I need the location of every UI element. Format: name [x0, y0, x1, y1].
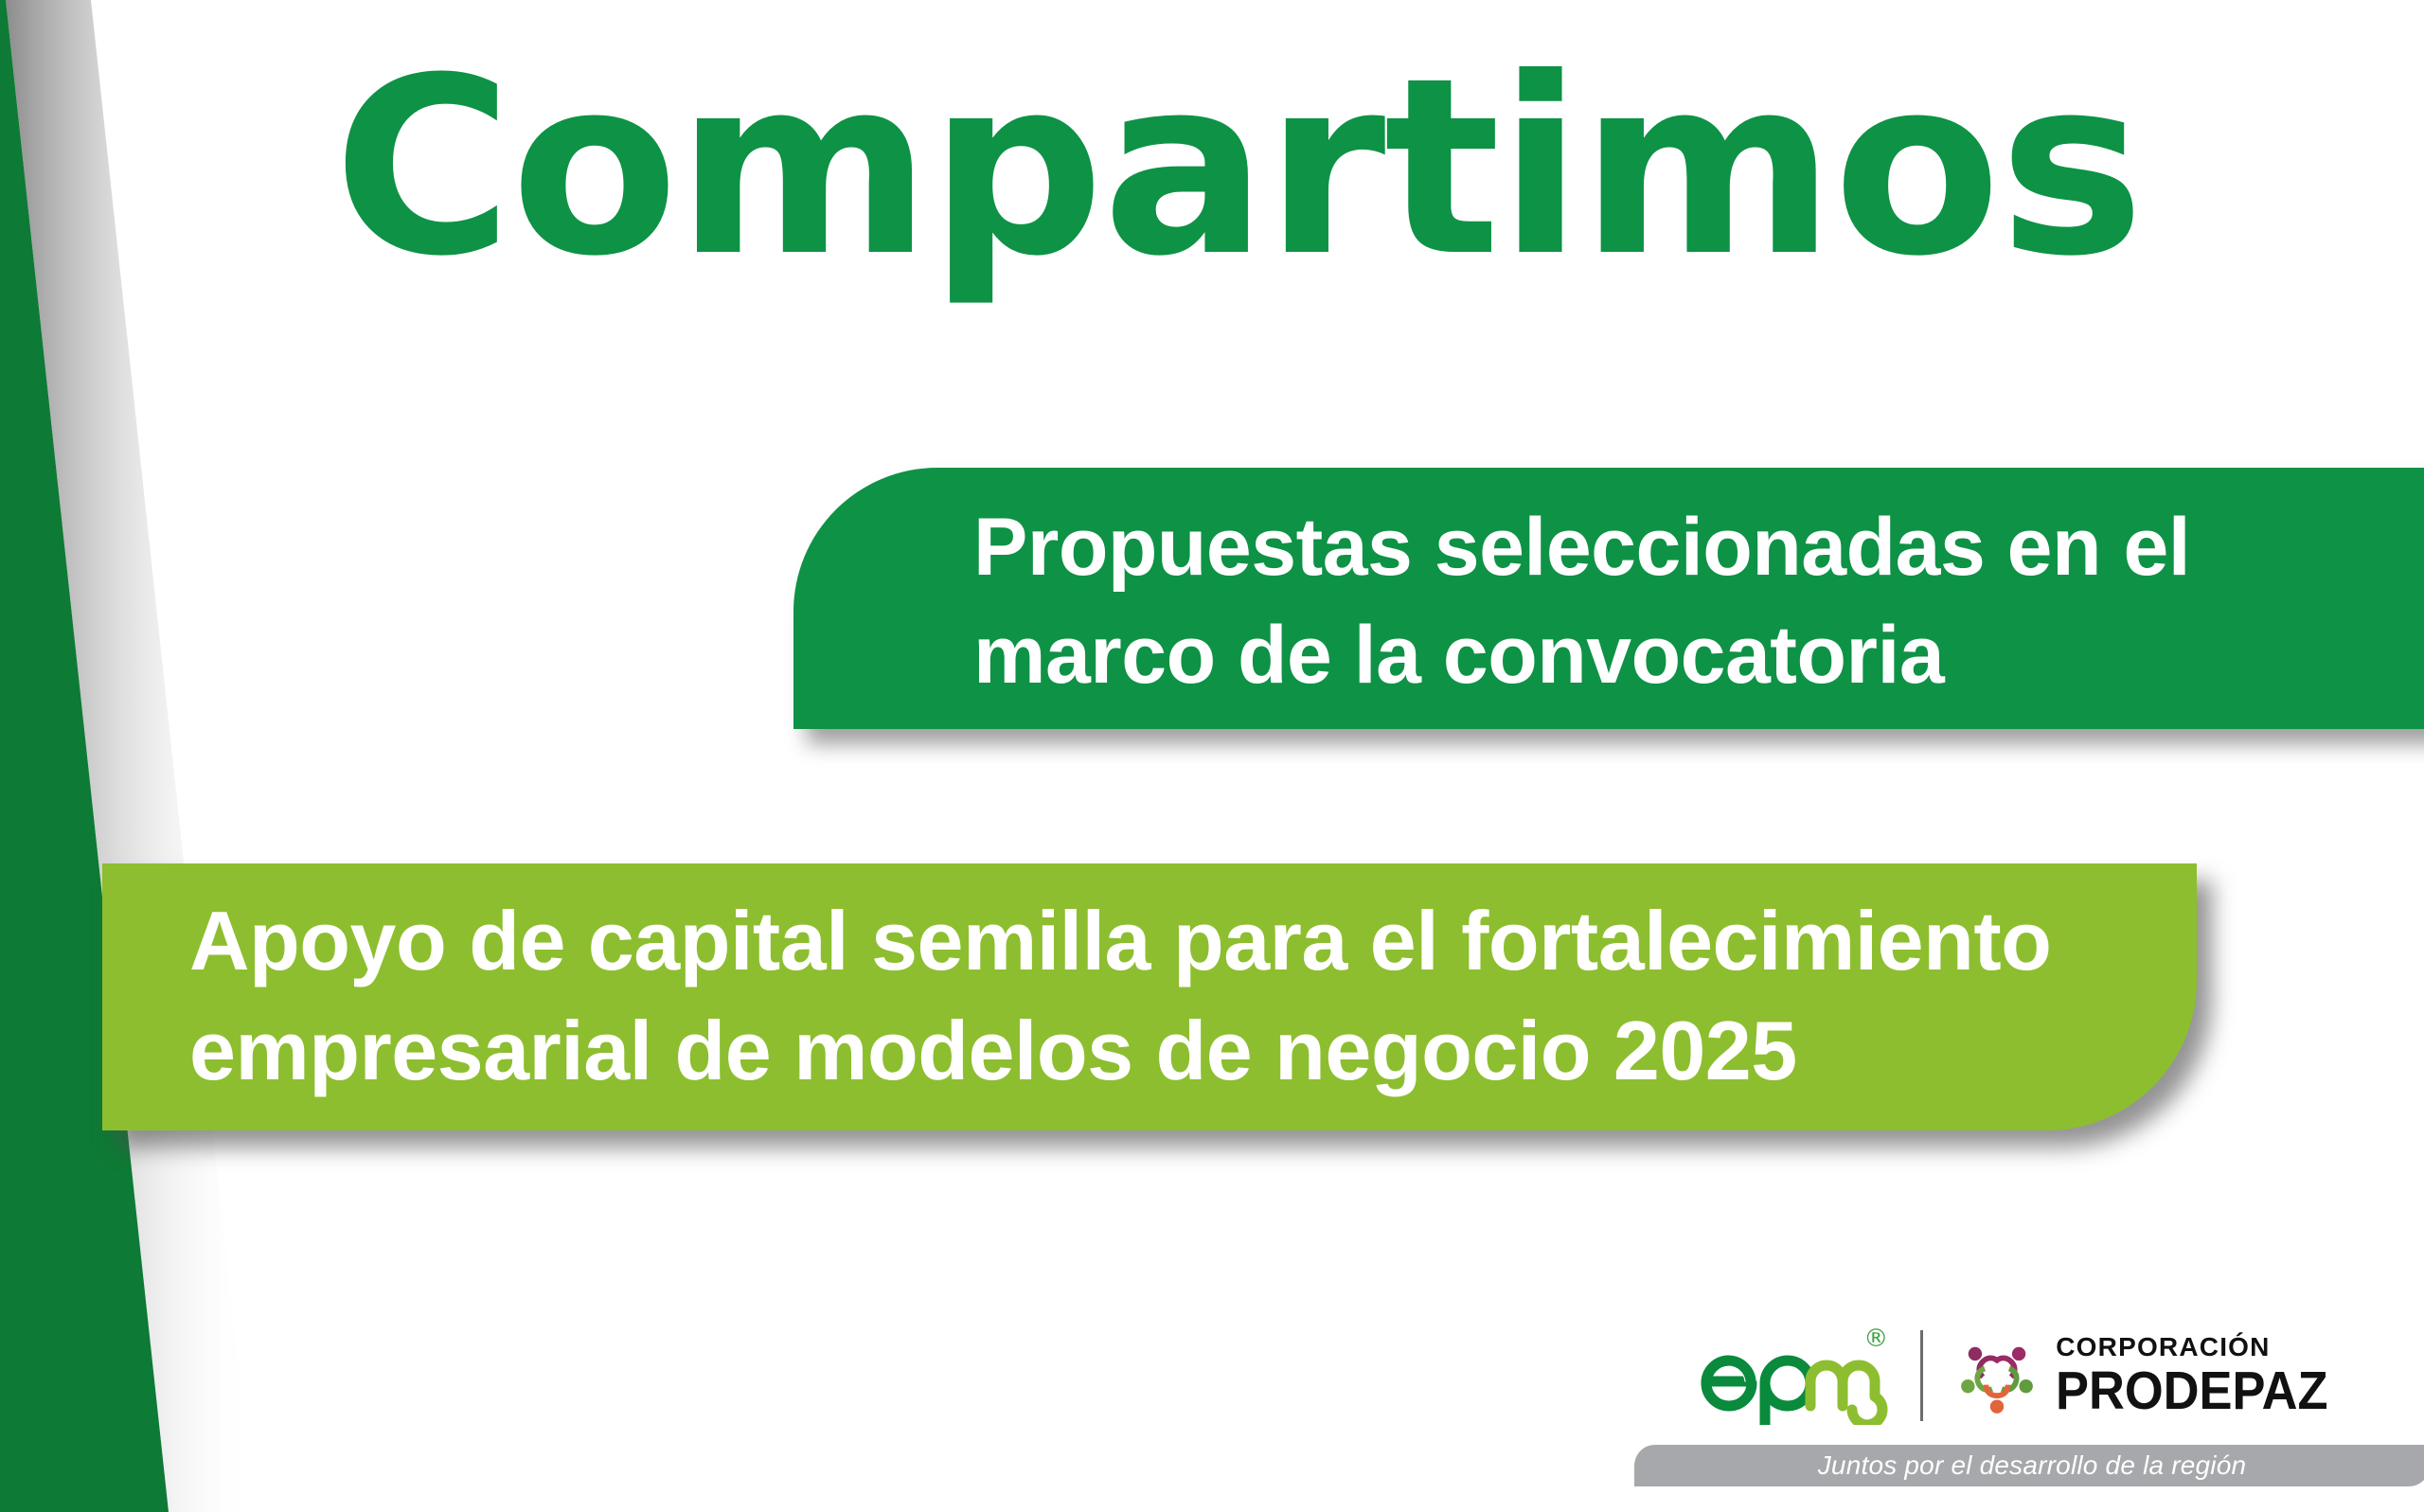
page-title: Compartimos [333, 45, 2143, 290]
prodepaz-name: PRODEPAZ [2056, 1364, 2327, 1418]
prodepaz-people-circle-icon [1952, 1330, 2042, 1421]
lime-banner-line-2: empresarial de modelos de negocio 2025 [189, 996, 2197, 1106]
green-banner-line-1: Propuestas seleccionadas en el [973, 494, 2424, 602]
green-banner-body: Propuestas seleccionadas en el marco de … [793, 468, 2424, 729]
lime-banner-body: Apoyo de capital semilla para el fortale… [102, 863, 2197, 1130]
registered-trademark-icon: ® [1863, 1326, 1888, 1351]
lime-banner: Apoyo de capital semilla para el fortale… [102, 863, 2197, 1130]
green-banner: Propuestas seleccionadas en el marco de … [793, 468, 2424, 729]
prodepaz-corporation-label: CORPORACIÓN [2056, 1334, 2351, 1361]
logo-card: ® [1615, 1295, 2424, 1512]
green-banner-line-2: marco de la convocatoria [973, 602, 2424, 710]
left-green-wedge [0, 0, 312, 1512]
tagline-text: Juntos por el desarrollo de la región [1818, 1450, 2247, 1481]
slide-canvas: Compartimos Propuestas seleccionadas en … [0, 0, 2424, 1512]
lime-banner-line-1: Apoyo de capital semilla para el fortale… [189, 886, 2197, 996]
epm-logo: ® [1693, 1326, 1892, 1425]
logo-row: ® [1615, 1320, 2424, 1432]
prodepaz-wordmark: CORPORACIÓN PRODEPAZ [2056, 1334, 2351, 1418]
epm-wordmark-icon [1693, 1326, 1892, 1425]
logo-divider [1920, 1330, 1923, 1421]
prodepaz-logo: CORPORACIÓN PRODEPAZ [1952, 1330, 2351, 1421]
tagline-bar: Juntos por el desarrollo de la región [1634, 1445, 2424, 1486]
